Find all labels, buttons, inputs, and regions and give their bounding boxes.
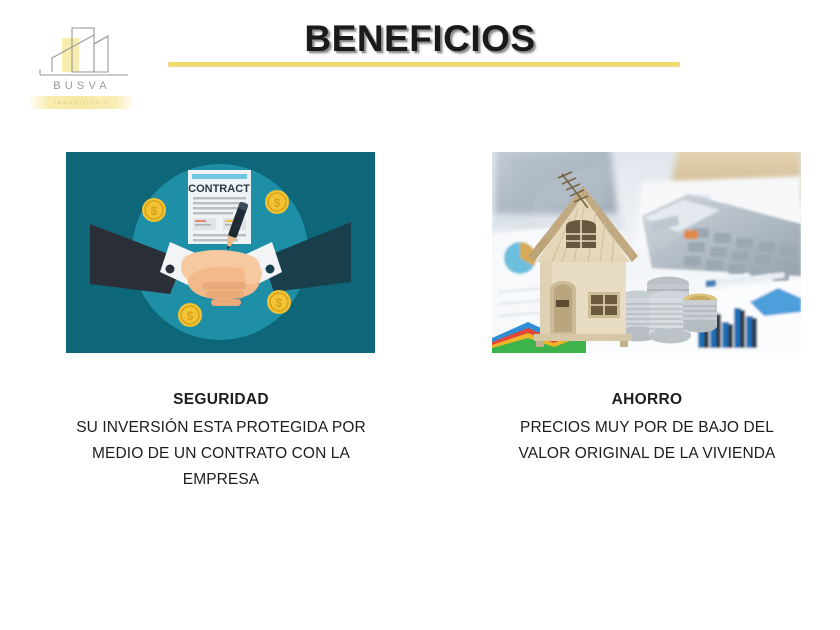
handshake-contract-illustration: CONTRACT — [66, 152, 375, 353]
caption-line: MEDIO DE UN CONTRATO CON LA — [31, 441, 411, 467]
caption-body-seguridad: SU INVERSIÓN ESTA PROTEGIDA POR MEDIO DE… — [31, 415, 411, 493]
svg-text:$: $ — [274, 196, 281, 210]
svg-text:$: $ — [151, 204, 158, 218]
svg-text:CONTRACT: CONTRACT — [188, 183, 250, 195]
caption-body-ahorro: PRECIOS MUY POR DE BAJO DEL VALOR ORIGIN… — [457, 415, 837, 467]
caption-seguridad: SEGURIDAD SU INVERSIÓN ESTA PROTEGIDA PO… — [31, 387, 411, 493]
caption-line: SU INVERSIÓN ESTA PROTEGIDA POR — [31, 415, 411, 441]
column-ahorro: AHORRO PRECIOS MUY POR DE BAJO DEL VALOR… — [492, 152, 801, 353]
svg-text:$: $ — [187, 309, 194, 323]
figure-house-coins — [492, 152, 801, 353]
page-title: BENEFICIOS — [0, 18, 840, 60]
column-seguridad: CONTRACT — [66, 152, 375, 353]
figure-handshake-contract: CONTRACT — [66, 152, 375, 353]
logo-tagline-highlight: INMOBILIARIA — [30, 96, 134, 109]
logo-wordmark: BUSVA — [26, 80, 138, 92]
house-model-coins-photo — [492, 152, 801, 353]
caption-line: EMPRESA — [31, 467, 411, 493]
caption-ahorro: AHORRO PRECIOS MUY POR DE BAJO DEL VALOR… — [457, 387, 837, 467]
caption-title-ahorro: AHORRO — [457, 387, 837, 413]
svg-text:$: $ — [276, 296, 283, 310]
caption-title-seguridad: SEGURIDAD — [31, 387, 411, 413]
caption-line: VALOR ORIGINAL DE LA VIVIENDA — [457, 441, 837, 467]
title-underline-rule — [168, 62, 680, 66]
slide-beneficios: BUSVA INMOBILIARIA BENEFICIOS CONTRACT — [0, 0, 840, 630]
caption-line: PRECIOS MUY POR DE BAJO DEL — [457, 415, 837, 441]
logo-tagline: INMOBILIARIA — [30, 96, 134, 109]
